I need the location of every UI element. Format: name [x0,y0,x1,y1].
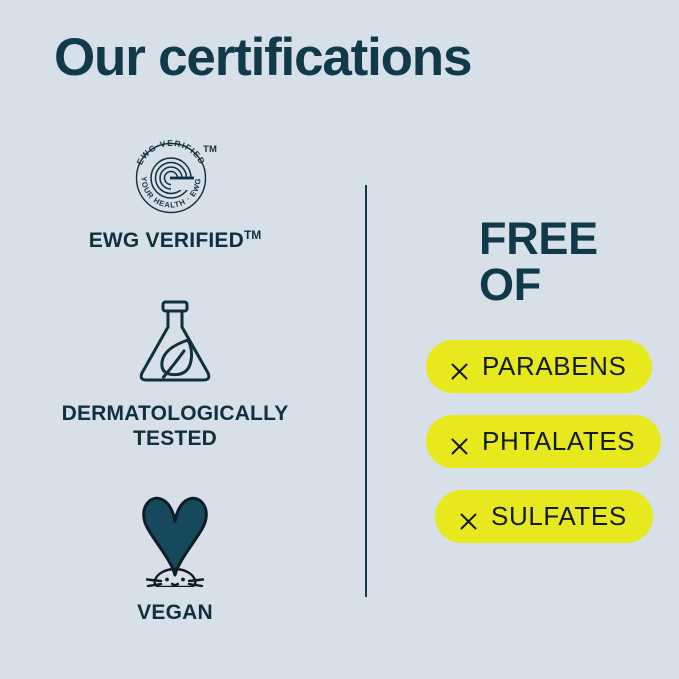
certification-item-ewg-verified: · EWG VERIFIED · FOR YOUR HEALTH · EWG.O… [0,130,350,254]
free-of-pill-row: PARABENS [426,340,679,393]
certification-label-line2: TESTED [133,427,217,450]
svg-text:TM: TM [203,144,217,155]
certification-label: EWG VERIFIEDTM [89,228,262,254]
flask-leaf-icon [127,296,223,393]
free-of-heading-line1: FREE [479,213,598,264]
certification-label-line1: DERMATOLOGICALLY [62,402,289,425]
free-of-pill-sulfates: SULFATES [435,490,653,543]
free-of-heading: FREE OF [479,216,598,309]
free-of-pill-row: PHTALATES [426,415,679,468]
certification-list: · EWG VERIFIED · FOR YOUR HEALTH · EWG.O… [0,130,350,626]
certification-label-text: VEGAN [137,601,213,624]
certification-label-text: EWG VERIFIED [89,229,244,252]
free-of-pill-label: SULFATES [491,501,627,532]
svg-text:· EWG VERIFIED ·: · EWG VERIFIED · [132,138,211,173]
free-of-pill-parabens: PARABENS [426,340,652,393]
certification-item-dermatologically-tested: DERMATOLOGICALLY TESTED [0,296,350,452]
column-divider [365,185,367,597]
page-title: Our certifications [54,30,471,86]
free-of-pill-label: PARABENS [482,351,626,382]
ewg-verified-seal-icon: · EWG VERIFIED · FOR YOUR HEALTH · EWG.O… [121,130,229,219]
free-of-heading-line2: OF [479,262,598,308]
certification-item-vegan: VEGAN [0,491,350,626]
x-mark-icon [459,507,478,526]
free-of-pill-phtalates: PHTALATES [426,415,661,468]
free-of-pill-list: PARABENS PHTALATES [415,340,679,543]
certification-label: DERMATOLOGICALLY TESTED [62,402,289,452]
free-of-pill-label: PHTALATES [482,426,635,457]
certification-label: VEGAN [137,601,213,626]
trademark-symbol: TM [244,228,261,242]
certifications-infographic: Our certifications · EWG VERIFIED · [0,0,679,679]
vegan-bunny-heart-icon [121,491,229,592]
x-mark-icon [450,357,469,376]
free-of-pill-row: SULFATES [435,490,679,543]
x-mark-icon [450,432,469,451]
